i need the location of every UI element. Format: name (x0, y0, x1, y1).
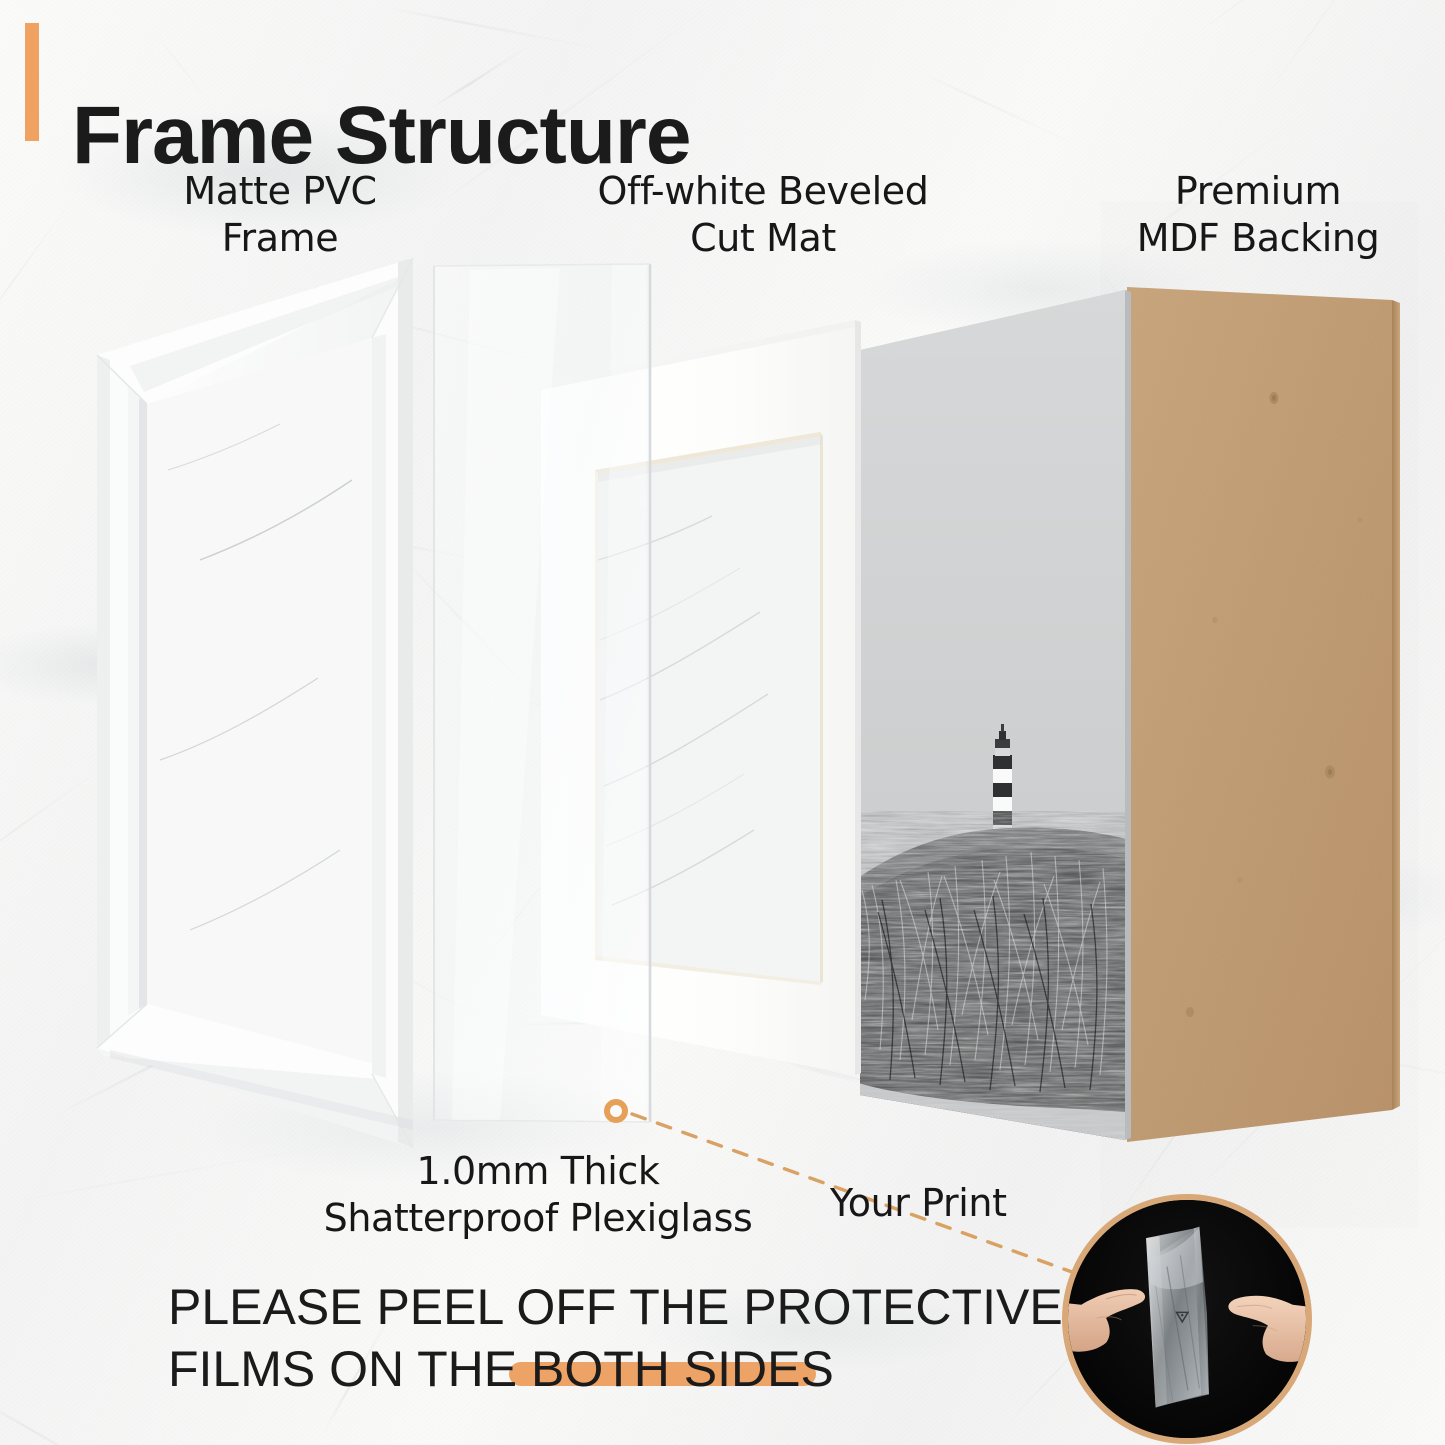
layer-plexiglass (434, 264, 650, 1122)
peel-film-inset-photo (1062, 1194, 1312, 1444)
footer-line-1: PLEASE PEEL OFF THE PROTECTIVE (168, 1276, 1068, 1338)
layer-mdf-backing (1127, 287, 1400, 1142)
layer-pvc-frame (97, 258, 413, 1148)
right-hand (1228, 1296, 1306, 1362)
label-cut-mat: Off-white Beveled Cut Mat (528, 168, 998, 262)
label-plexiglass: 1.0mm Thick Shatterproof Plexiglass (258, 1148, 818, 1242)
footer-warning: PLEASE PEEL OFF THE PROTECTIVE FILMS ON … (168, 1276, 1068, 1400)
left-hand (1068, 1289, 1145, 1352)
infographic-canvas: Frame Structure Matte PVC Frame Off-whit… (0, 0, 1445, 1445)
label-line-2: Shatterproof Plexiglass (258, 1195, 818, 1242)
label-line-2: MDF Backing (1068, 215, 1445, 262)
label-matte-pvc-frame: Matte PVC Frame (95, 168, 465, 262)
label-line-1: Premium (1068, 168, 1445, 215)
label-mdf-backing: Premium MDF Backing (1068, 168, 1445, 262)
peel-film-illustration (1068, 1200, 1306, 1438)
callout-marker-icon (604, 1099, 628, 1123)
label-line-1: Matte PVC (95, 168, 465, 215)
title-accent-bar (25, 23, 39, 141)
label-line-2: Frame (95, 215, 465, 262)
layer-your-print (855, 285, 1131, 1150)
footer-line-2: FILMS ON THE BOTH SIDES (168, 1338, 1068, 1400)
label-line-1: Off-white Beveled (528, 168, 998, 215)
lighthouse-motif (993, 724, 1012, 840)
label-line-2: Cut Mat (528, 215, 998, 262)
label-line-1: 1.0mm Thick (258, 1148, 818, 1195)
